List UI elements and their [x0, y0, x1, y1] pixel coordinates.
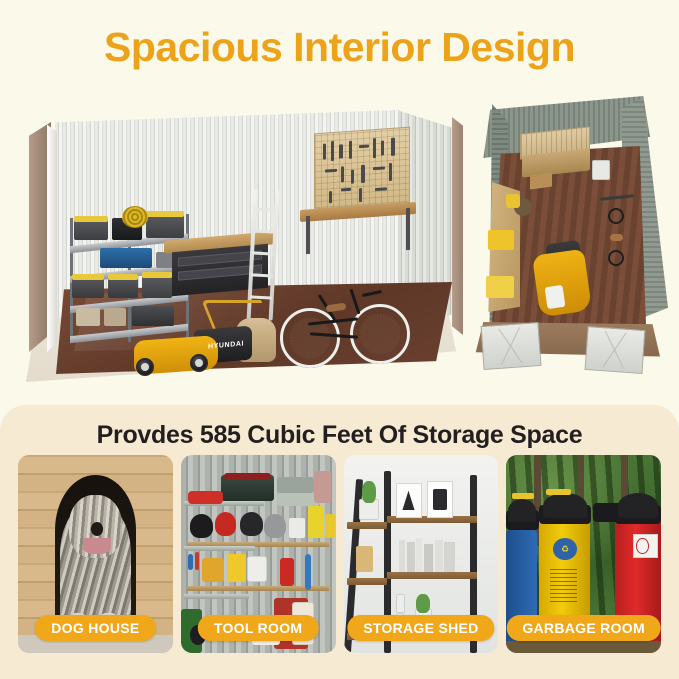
shelf-board	[347, 522, 387, 529]
overhead-yellow-box	[488, 230, 514, 250]
thumbnail-storage-shed[interactable]: STORAGE SHED	[344, 455, 499, 653]
cactus	[416, 594, 430, 614]
thumbnail-label-storage-shed: STORAGE SHED	[347, 615, 494, 641]
tool-room-shelf	[184, 546, 255, 551]
garbage-bag	[618, 493, 658, 519]
overhead-door-left	[481, 322, 542, 370]
shed-interior-perspective: HYUNDAI	[14, 86, 462, 384]
ground	[506, 641, 661, 653]
storage-bin	[142, 276, 172, 298]
book	[435, 540, 443, 572]
thumbnail-label-tool-room: TOOL ROOM	[198, 615, 319, 641]
storage-bin	[132, 306, 174, 326]
feature-panel: Provdes 585 Cubic Feet Of Storage Space …	[0, 405, 679, 679]
book	[407, 542, 415, 572]
jerry-can	[227, 554, 246, 582]
storage-bin	[108, 278, 138, 298]
storage-bin	[104, 308, 126, 326]
storage-bin	[108, 274, 138, 280]
prohibition-icon	[636, 538, 648, 554]
bin-handle	[512, 493, 534, 499]
jerry-can	[202, 558, 224, 582]
shed-left-wall-inner	[47, 120, 57, 352]
book	[424, 544, 433, 572]
garbage-bag	[543, 493, 586, 519]
helmet	[215, 512, 237, 536]
storage-bin	[76, 308, 100, 326]
storage-bin	[142, 272, 172, 278]
storage-bin	[146, 214, 184, 238]
spray-bottle	[308, 506, 323, 538]
overhead-door-right	[585, 326, 646, 374]
cactus	[362, 481, 376, 503]
glass-bottle	[396, 594, 405, 614]
book	[444, 542, 455, 572]
storage-bin	[74, 216, 108, 222]
tool-room-shelf	[184, 594, 249, 599]
storage-bin	[100, 248, 152, 268]
recycling-symbol-icon: ♻	[553, 538, 578, 560]
paper-roll	[289, 518, 304, 538]
helmet	[190, 514, 213, 538]
bicycle	[276, 290, 416, 372]
pegboard-tool-wall	[314, 127, 410, 210]
garbage-bag	[508, 499, 536, 523]
page-title: Spacious Interior Design	[0, 24, 679, 71]
tool-room-bin	[277, 477, 314, 493]
tool-room-bin-lid	[224, 473, 270, 479]
helmet	[240, 512, 263, 536]
shed-overhead-cutaway	[462, 90, 670, 380]
overhead-bicycle	[604, 194, 630, 270]
garden-hose-coil	[122, 206, 148, 228]
long-tool	[305, 554, 311, 590]
overhead-mower-panel	[545, 285, 566, 309]
thumbnail-garbage-room[interactable]: ♻ GARBAGE ROOM	[506, 455, 661, 653]
hero-images: HYUNDAI	[0, 82, 679, 382]
dog-mouth	[83, 538, 111, 554]
overhead-can	[506, 194, 520, 208]
helmet	[264, 514, 286, 538]
bin-handle	[546, 489, 571, 495]
book	[416, 538, 422, 572]
overhead-yellow-box	[486, 276, 514, 298]
thumbnail-label-garbage-room: GARBAGE ROOM	[506, 615, 661, 641]
capacity-subtitle: Provdes 585 Cubic Feet Of Storage Space	[0, 421, 679, 450]
fire-extinguisher	[280, 558, 294, 586]
book	[399, 540, 405, 572]
woven-basket	[356, 546, 373, 572]
picture-art	[433, 489, 447, 511]
bin-text-block	[550, 566, 578, 602]
shelf-board	[387, 572, 477, 579]
thumbnail-dog-house[interactable]: DOG HOUSE	[18, 455, 173, 653]
tool-room-container	[314, 471, 331, 503]
tool-handle	[188, 554, 193, 570]
overhead-bucket	[592, 160, 610, 180]
tool-room-hose	[188, 491, 222, 505]
thumbnail-tool-room[interactable]: TOOL ROOM	[181, 455, 336, 653]
paint-tin	[247, 556, 267, 582]
storage-bin	[72, 278, 104, 298]
bottle	[325, 514, 336, 538]
storage-bin	[72, 274, 104, 280]
marketing-image-root: Spacious Interior Design	[0, 0, 679, 679]
storage-bin	[146, 211, 184, 217]
tool-handle	[195, 552, 200, 570]
storage-bin	[74, 220, 108, 240]
thumbnail-row: DOG HOUSE	[18, 455, 661, 653]
shelf-board	[347, 578, 387, 585]
thumbnail-label-dog-house: DOG HOUSE	[35, 615, 155, 641]
